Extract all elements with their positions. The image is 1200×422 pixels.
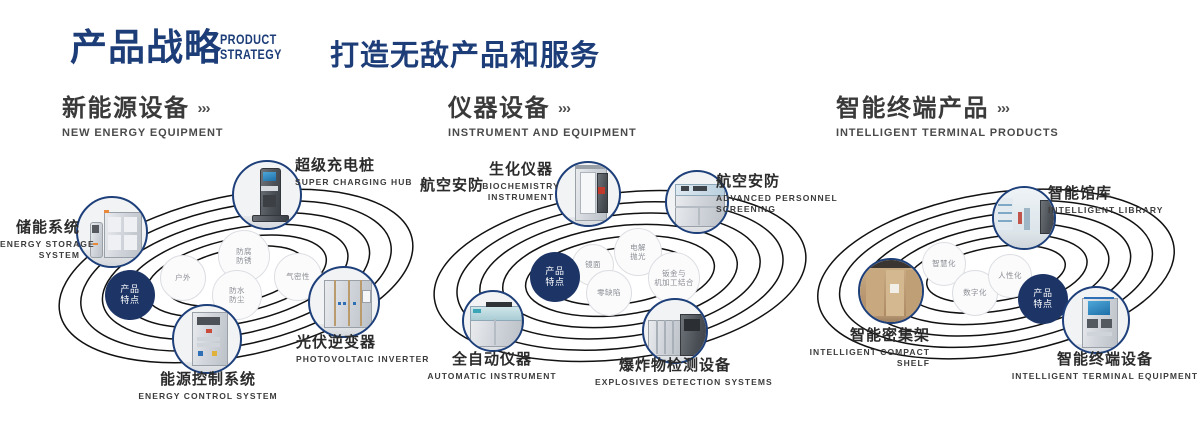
node-label-cn: 全自动仪器 (412, 350, 572, 369)
energy-storage-cabinet-icon (78, 198, 146, 266)
section-heading-intelligent-terminal: 智能终端产品››› INTELLIGENT TERMINAL PRODUCTS (836, 95, 1059, 139)
core-bubble-label: 产品特点 (120, 284, 139, 306)
node-label-en: BIOCHEMISTRYINSTRUMENT (456, 181, 586, 203)
node-label-cn: 爆炸物检测设备 (595, 356, 755, 375)
feature-label: 人性化 (998, 271, 1022, 281)
node-label-en: INTELLIGENT TERMINAL EQUIPMENT (1010, 371, 1200, 382)
node-intelligent-terminal-equipment[interactable] (1062, 286, 1130, 354)
node-label-intelligent-terminal-equipment: 智能终端设备 INTELLIGENT TERMINAL EQUIPMENT (1010, 350, 1200, 382)
page-title-en-line2: STRATEGY (220, 47, 282, 62)
self-service-kiosk-icon (1064, 288, 1128, 352)
feature-label: 数字化 (963, 288, 987, 298)
feature-label: 气密性 (286, 272, 310, 282)
node-label-cn: 储能系统 (0, 218, 80, 237)
feature-label: 电解抛光 (630, 243, 646, 262)
poster-canvas: 产品战略 PRODUCT STRATEGY 打造无敌产品和服务 新能源设备›››… (0, 0, 1200, 422)
page-subtitle: 打造无敌产品和服务 (330, 32, 600, 74)
feature-label: 户外 (175, 273, 191, 283)
control-cabinet-icon (174, 306, 240, 372)
chevron-right-icon: ››› (198, 95, 210, 123)
core-bubble-product-features: 产品特点 (530, 252, 580, 302)
feature-bubble: 钣金与机加工结合 (648, 252, 700, 304)
core-bubble-label: 产品特点 (1033, 288, 1052, 310)
node-label-automatic-instrument: 全自动仪器 AUTOMATIC INSTRUMENT (412, 350, 572, 382)
node-label-energy-control-system: 能源控制系统 ENERGY CONTROL SYSTEM (113, 370, 303, 402)
node-super-charging-hub[interactable] (232, 160, 302, 230)
section-heading-instrument: 仪器设备››› INSTRUMENT AND EQUIPMENT (448, 95, 637, 139)
pv-inverter-cabinet-icon (310, 268, 378, 336)
node-label-energy-storage-system: 储能系统 ENERGY STORAGESYSTEM (0, 218, 80, 261)
node-explosives-detection-systems[interactable] (642, 298, 708, 364)
explosives-detector-icon (644, 300, 706, 362)
node-label-en: INTELLIGENT COMPACTSHELF (750, 347, 930, 369)
page-title: 产品战略 (70, 26, 222, 70)
page-title-en-line1: PRODUCT (220, 32, 282, 47)
core-bubble-label: 产品特点 (545, 266, 564, 288)
node-energy-control-system[interactable] (172, 304, 242, 374)
chevron-right-icon: ››› (558, 95, 570, 123)
feature-label: 镜面 (585, 260, 601, 270)
feature-label: 钣金与机加工结合 (654, 269, 694, 288)
node-automatic-instrument[interactable] (462, 290, 524, 352)
node-label-en: ENERGY STORAGESYSTEM (0, 239, 80, 261)
node-label-cn: 生化仪器 (456, 160, 586, 179)
section-title-en: NEW ENERGY EQUIPMENT (62, 127, 223, 139)
section-heading-new-energy: 新能源设备››› NEW ENERGY EQUIPMENT (62, 95, 223, 139)
chevron-right-icon: ››› (997, 95, 1009, 123)
node-label-en: ENERGY CONTROL SYSTEM (113, 391, 303, 402)
charging-pile-icon (234, 162, 300, 228)
feature-label: 智慧化 (932, 259, 956, 269)
cluster-intelligent-terminal: 智慧化 数字化 人性化 产品特点 (810, 158, 1200, 388)
node-label-en: EXPLOSIVES DETECTION SYSTEMS (595, 377, 755, 388)
node-label-cn: 能源控制系统 (113, 370, 303, 389)
feature-bubble: 零缺陷 (586, 270, 632, 316)
node-label-intelligent-library: 智能馆库 INTELLIGENT LIBRARY (1048, 184, 1200, 216)
cluster-new-energy: 户外 防腐防锈 防水防尘 气密性 产品特点 (40, 158, 430, 388)
node-label-cn: 超级充电桩 (295, 156, 435, 175)
node-label-cn: 智能馆库 (1048, 184, 1200, 203)
compact-shelf-icon (860, 260, 922, 322)
node-intelligent-compact-shelf[interactable] (858, 258, 924, 324)
section-title-cn: 仪器设备››› (448, 95, 637, 123)
node-energy-storage-system[interactable] (76, 196, 148, 268)
page-title-english: PRODUCT STRATEGY (220, 32, 282, 62)
feature-label: 防水防尘 (229, 286, 245, 305)
section-title-cn: 新能源设备››› (62, 95, 223, 123)
feature-label: 防腐防锈 (236, 247, 252, 266)
library-room-icon (994, 188, 1054, 248)
core-bubble-product-features: 产品特点 (1018, 274, 1068, 324)
poster-header: 产品战略 PRODUCT STRATEGY 打造无敌产品和服务 (0, 0, 1200, 92)
core-bubble-product-features: 产品特点 (105, 270, 155, 320)
node-label-en: INTELLIGENT LIBRARY (1048, 205, 1200, 216)
node-label-biochemistry-instrument: 生化仪器 BIOCHEMISTRYINSTRUMENT (456, 160, 586, 203)
section-title-en: INSTRUMENT AND EQUIPMENT (448, 127, 637, 139)
section-title-en: INTELLIGENT TERMINAL PRODUCTS (836, 127, 1059, 139)
node-photovoltaic-inverter[interactable] (308, 266, 380, 338)
feature-label: 零缺陷 (597, 288, 621, 298)
node-intelligent-library[interactable] (992, 186, 1056, 250)
feature-bubble: 户外 (160, 255, 206, 301)
node-label-intelligent-compact-shelf: 智能密集架 INTELLIGENT COMPACTSHELF (750, 326, 930, 369)
node-label-en: AUTOMATIC INSTRUMENT (412, 371, 572, 382)
node-label-explosives-detection-systems: 爆炸物检测设备 EXPLOSIVES DETECTION SYSTEMS (595, 356, 755, 388)
section-title-cn: 智能终端产品››› (836, 95, 1059, 123)
node-label-cn: 智能终端设备 (1010, 350, 1200, 369)
node-label-cn: 智能密集架 (750, 326, 930, 345)
automatic-analyzer-icon (464, 292, 522, 350)
